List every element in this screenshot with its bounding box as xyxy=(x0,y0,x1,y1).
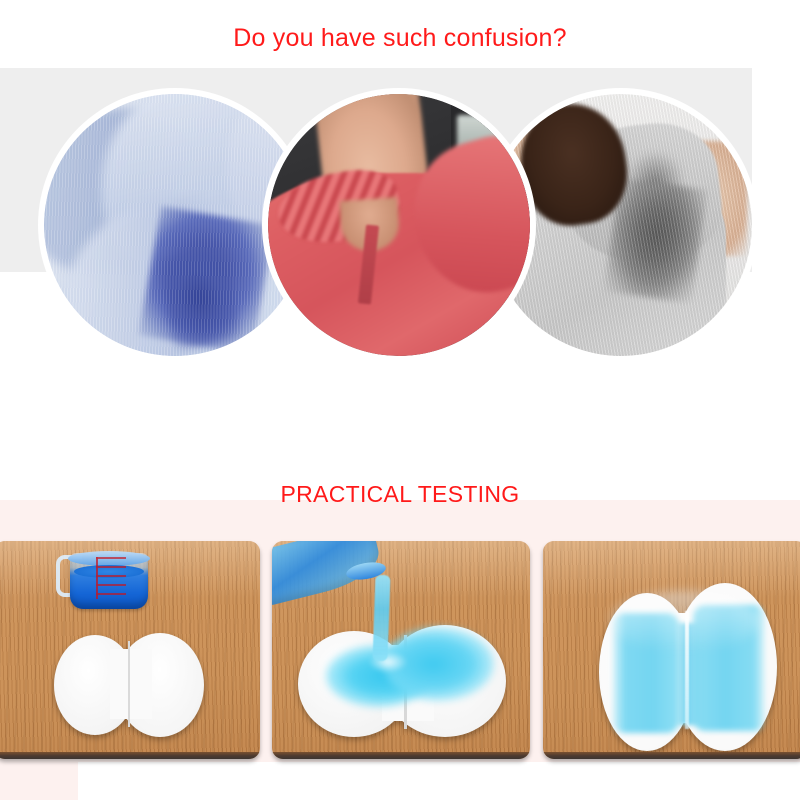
pad-center-seam xyxy=(128,641,130,727)
testing-heading: PRACTICAL TESTING xyxy=(0,481,800,508)
board-edge-shadow xyxy=(543,752,800,759)
photo-clip-1 xyxy=(44,94,306,356)
product-listing-image: Do you have such confusion? xyxy=(0,0,800,800)
sweat-pad-dry xyxy=(54,633,204,737)
photo-man-blue-shirt-sweat-stain xyxy=(44,94,306,356)
sweat-pad-saturated xyxy=(599,583,777,753)
measuring-cup xyxy=(56,549,148,613)
confusion-section: Do you have such confusion? xyxy=(0,0,800,470)
pad-waist xyxy=(110,649,152,719)
cup-measurement-markings xyxy=(96,557,126,599)
board-edge-shadow xyxy=(272,752,530,759)
pad-gloss-highlight xyxy=(609,591,760,652)
photo-test-step-fully-absorbed xyxy=(543,541,800,759)
fabric-weave-texture xyxy=(44,94,306,356)
photo-test-step-pouring-liquid xyxy=(272,541,530,759)
confusion-photo-group xyxy=(0,0,800,470)
testing-photo-group xyxy=(0,541,800,759)
photo-clip-2 xyxy=(268,94,530,356)
pouring-stream xyxy=(373,575,391,661)
board-edge-shadow xyxy=(0,752,260,759)
photo-test-step-dry-pad xyxy=(0,541,260,759)
pink-corner-block xyxy=(0,762,78,800)
photo-woman-coral-blouse-sweat xyxy=(268,94,530,356)
